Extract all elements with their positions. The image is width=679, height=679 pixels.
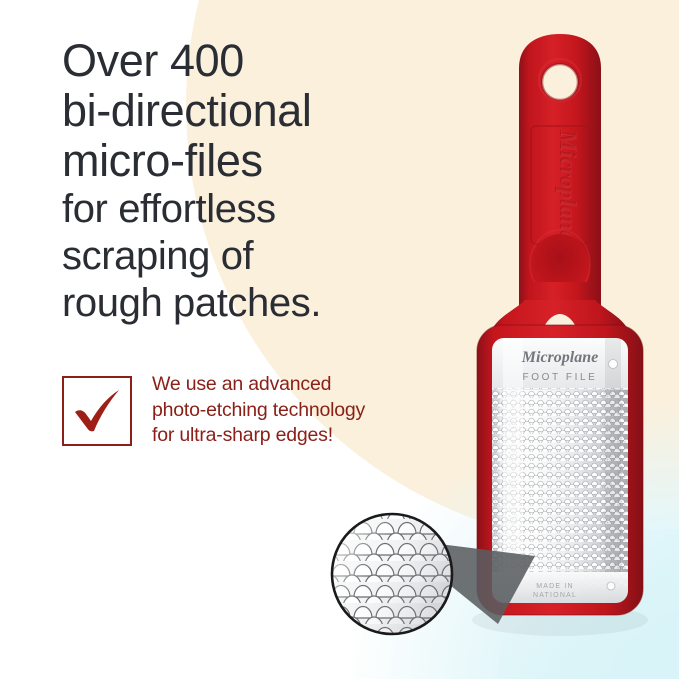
plate-rivet-top <box>609 360 618 369</box>
plate-rivet-bottom <box>607 582 615 590</box>
feature-callout: We use an advanced photo-etching technol… <box>62 372 365 449</box>
headline-line-5: scraping of <box>62 233 462 280</box>
checkbox-frame <box>62 376 132 446</box>
marketing-graphic: Over 400 bi-directional micro-files for … <box>0 0 679 679</box>
callout-line-3: for ultra-sharp edges! <box>152 423 365 449</box>
headline-block: Over 400 bi-directional micro-files for … <box>62 36 462 327</box>
magnifier-detail <box>330 498 560 648</box>
checkmark-icon <box>70 384 124 438</box>
headline-number: 400 <box>170 35 244 86</box>
headline-line-4: for effortless <box>62 186 462 233</box>
plate-brand: Microplane <box>521 349 598 366</box>
headline-line-3: micro-files <box>62 136 462 186</box>
svg-text:Microplane: Microplane <box>556 130 581 241</box>
headline-prefix: Over <box>62 35 170 86</box>
headline-line-1: Over 400 <box>62 36 462 86</box>
callout-text-block: We use an advanced photo-etching technol… <box>152 372 365 449</box>
headline-line-6: rough patches. <box>62 280 462 327</box>
headline-line-2: bi-directional <box>62 86 462 136</box>
callout-line-1: We use an advanced <box>152 372 365 398</box>
callout-line-2: photo-etching technology <box>152 398 365 424</box>
plate-subtitle: FOOT FILE <box>523 372 598 383</box>
